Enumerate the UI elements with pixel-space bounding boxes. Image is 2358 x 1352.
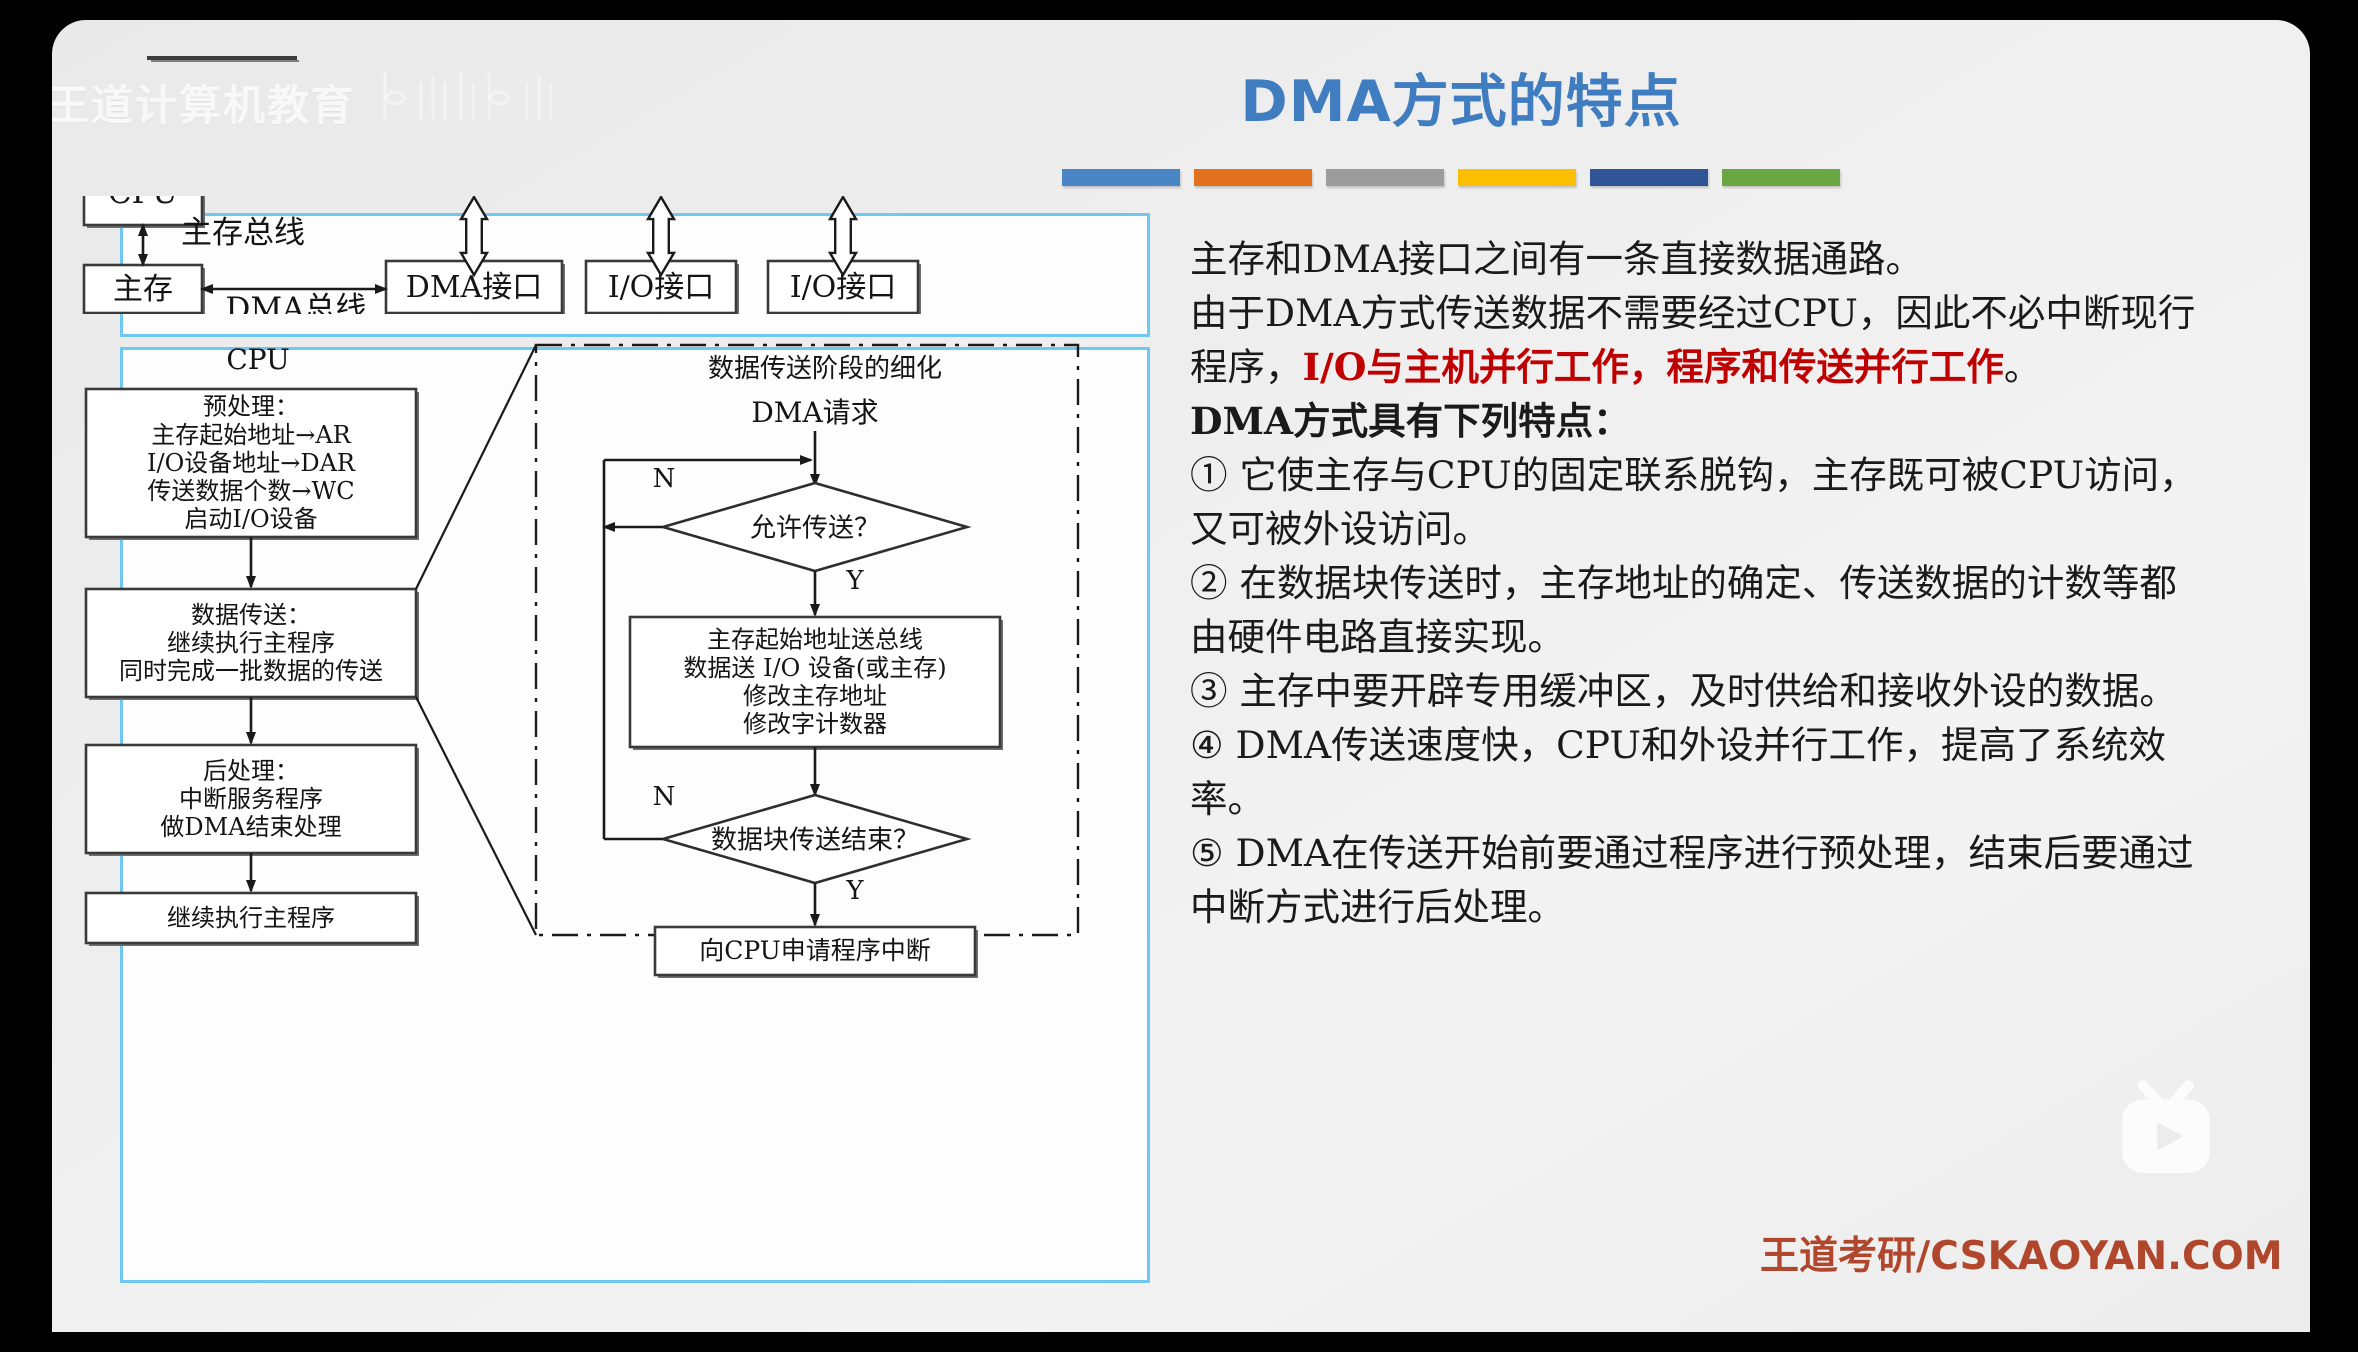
feature-item-5: ⑤ DMA在传送开始前要通过程序进行预处理，结束后要通过中断方式进行后处理。 [1190, 826, 2210, 934]
body-para-2-tail: 。 [2004, 345, 2042, 389]
body-para-3: DMA方式具有下列特点： [1190, 394, 2210, 448]
page-title-text: DMA方式的特点 [680, 56, 1681, 138]
feature-item-4: ④ DMA传送速度快，CPU和外设并行工作，提高了系统效率。 [1190, 718, 2210, 826]
dma-flowchart-panel [120, 347, 1150, 1283]
bilibili-tv-play-icon [2110, 1075, 2222, 1187]
bar-gray [1326, 169, 1444, 186]
body-text-column: 主存和DMA接口之间有一条直接数据通路。 由于DMA方式传送数据不需要经过CPU… [1190, 232, 2210, 934]
bar-green [1722, 169, 1840, 186]
page-title: DMA方式的特点 [52, 56, 2310, 138]
bar-blue [1062, 169, 1180, 186]
body-para-2-highlight: I/O与主机并行工作，程序和传送并行工作 [1303, 345, 2004, 389]
feature-item-1: ① 它使主存与CPU的固定联系脱钩，主存既可被CPU访问，又可被外设访问。 [1190, 448, 2210, 556]
body-para-1: 主存和DMA接口之间有一条直接数据通路。 [1190, 232, 2210, 286]
feature-item-3: ③ 主存中要开辟专用缓冲区，及时供给和接收外设的数据。 [1190, 664, 2210, 718]
bar-orange [1194, 169, 1312, 186]
footer-brand: 王道考研/CSKAOYAN.COM [1760, 1225, 2283, 1281]
bar-amber [1458, 169, 1576, 186]
title-accent-bars [52, 168, 2310, 186]
box-cpu [147, 56, 297, 60]
feature-item-2: ② 在数据块传送时，主存地址的确定、传送数据的计数等都由硬件电路直接实现。 [1190, 556, 2210, 664]
body-para-2: 由于DMA方式传送数据不需要经过CPU，因此不必中断现行程序，I/O与主机并行工… [1190, 286, 2210, 394]
bar-navy [1590, 169, 1708, 186]
top-diagram-overlay [120, 213, 1150, 337]
